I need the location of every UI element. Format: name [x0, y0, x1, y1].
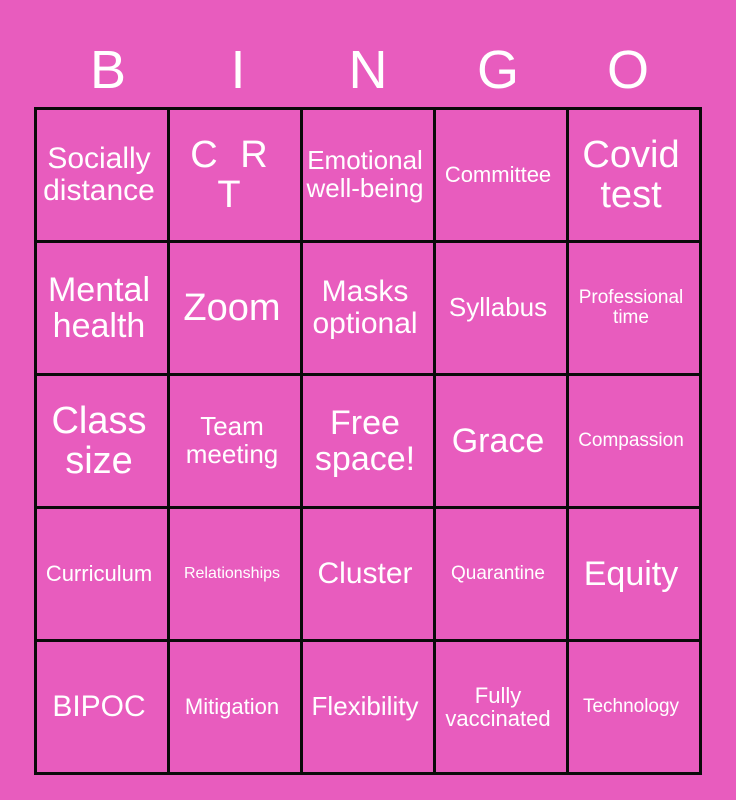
bingo-cell[interactable]: Covid test	[568, 109, 701, 242]
bingo-cell-label: Curriculum	[39, 562, 159, 585]
bingo-cell[interactable]: Compassion	[568, 375, 701, 508]
bingo-cell-label: Compassion	[571, 431, 691, 451]
bingo-cell[interactable]: Relationships	[169, 508, 302, 641]
bingo-cell[interactable]: Mental health	[36, 242, 169, 375]
bingo-cell-content: Committee	[436, 113, 560, 237]
bingo-cell-label: Grace	[438, 423, 558, 459]
bingo-cell-content: Covid test	[569, 113, 693, 237]
bingo-cell-content: Masks optional	[303, 246, 427, 370]
bingo-cell[interactable]: Quarantine	[435, 508, 568, 641]
bingo-cell-label: C R T	[172, 135, 292, 216]
bingo-cell[interactable]: Equity	[568, 508, 701, 641]
bingo-cell[interactable]: Syllabus	[435, 242, 568, 375]
bingo-cell-content: Technology	[569, 645, 693, 769]
bingo-cell[interactable]: Cluster	[302, 508, 435, 641]
bingo-card: B I N G O Socially distanceC R TEmotiona…	[0, 0, 736, 800]
bingo-cell-label: Zoom	[172, 288, 292, 328]
bingo-cell[interactable]: Technology	[568, 641, 701, 774]
bingo-cell[interactable]: Committee	[435, 109, 568, 242]
bingo-cell-content: Syllabus	[436, 246, 560, 370]
bingo-cell-content: Mitigation	[170, 645, 294, 769]
bingo-cell[interactable]: Masks optional	[302, 242, 435, 375]
bingo-cell-content: Team meeting	[170, 379, 294, 503]
bingo-cell-content: Class size	[37, 379, 161, 503]
bingo-cell[interactable]: Emotional well-being	[302, 109, 435, 242]
bingo-row: Class sizeTeam meetingFree space!GraceCo…	[36, 375, 701, 508]
bingo-cell-label: Free space!	[305, 405, 425, 477]
bingo-cell-content: BIPOC	[37, 645, 161, 769]
bingo-cell-content: Socially distance	[37, 113, 161, 237]
bingo-cell-label: Flexibility	[305, 693, 425, 721]
bingo-cell-label: Covid test	[571, 135, 691, 216]
bingo-cell[interactable]: BIPOC	[36, 641, 169, 774]
bingo-cell-content: Flexibility	[303, 645, 427, 769]
bingo-cell-content: Professional time	[569, 246, 693, 370]
bingo-cell-content: Emotional well-being	[303, 113, 427, 237]
header-letter-o: O	[563, 42, 693, 98]
bingo-cell-label: Mental health	[39, 272, 159, 344]
bingo-cell-content: Mental health	[37, 246, 161, 370]
bingo-header: B I N G O	[43, 36, 693, 98]
bingo-cell[interactable]: Fully vaccinated	[435, 641, 568, 774]
bingo-grid: Socially distanceC R TEmotional well-bei…	[34, 107, 702, 775]
bingo-cell-content: Compassion	[569, 379, 693, 503]
bingo-cell[interactable]: Mitigation	[169, 641, 302, 774]
bingo-cell[interactable]: Curriculum	[36, 508, 169, 641]
bingo-cell-content: Relationships	[170, 512, 294, 636]
bingo-cell[interactable]: Team meeting	[169, 375, 302, 508]
bingo-cell-label: Syllabus	[438, 294, 558, 322]
bingo-cell-content: C R T	[170, 113, 294, 237]
bingo-cell[interactable]: Zoom	[169, 242, 302, 375]
bingo-cell[interactable]: C R T	[169, 109, 302, 242]
bingo-cell-label: Mitigation	[172, 695, 292, 718]
bingo-cell-content: Grace	[436, 379, 560, 503]
bingo-row: Socially distanceC R TEmotional well-bei…	[36, 109, 701, 242]
bingo-cell-content: Curriculum	[37, 512, 161, 636]
bingo-cell-content: Equity	[569, 512, 693, 636]
bingo-cell-label: Professional time	[571, 288, 691, 328]
bingo-cell-content: Quarantine	[436, 512, 560, 636]
header-letter-b: B	[43, 42, 173, 98]
header-letter-g: G	[433, 42, 563, 98]
bingo-cell-label: Equity	[571, 556, 691, 592]
bingo-cell[interactable]: Free space!	[302, 375, 435, 508]
bingo-cell[interactable]: Socially distance	[36, 109, 169, 242]
bingo-cell-label: Masks optional	[305, 276, 425, 340]
bingo-cell[interactable]: Professional time	[568, 242, 701, 375]
bingo-cell-label: Cluster	[305, 558, 425, 590]
bingo-cell-content: Cluster	[303, 512, 427, 636]
bingo-cell-label: Technology	[571, 697, 691, 717]
bingo-cell[interactable]: Grace	[435, 375, 568, 508]
bingo-cell-label: Committee	[438, 163, 558, 186]
bingo-cell[interactable]: Class size	[36, 375, 169, 508]
bingo-row: CurriculumRelationshipsClusterQuarantine…	[36, 508, 701, 641]
bingo-cell-label: Emotional well-being	[305, 147, 425, 202]
header-letter-n: N	[303, 42, 433, 98]
bingo-cell-content: Zoom	[170, 246, 294, 370]
bingo-cell[interactable]: Flexibility	[302, 641, 435, 774]
bingo-cell-label: BIPOC	[39, 691, 159, 723]
bingo-row: BIPOCMitigationFlexibilityFully vaccinat…	[36, 641, 701, 774]
bingo-cell-label: Relationships	[172, 566, 292, 583]
bingo-cell-content: Free space!	[303, 379, 427, 503]
bingo-cell-label: Class size	[39, 401, 159, 482]
bingo-cell-label: Team meeting	[172, 413, 292, 468]
bingo-cell-label: Quarantine	[438, 564, 558, 584]
bingo-cell-label: Socially distance	[39, 143, 159, 207]
bingo-row: Mental healthZoomMasks optionalSyllabusP…	[36, 242, 701, 375]
bingo-cell-content: Fully vaccinated	[436, 645, 560, 769]
header-letter-i: I	[173, 42, 303, 98]
bingo-cell-label: Fully vaccinated	[438, 684, 558, 731]
